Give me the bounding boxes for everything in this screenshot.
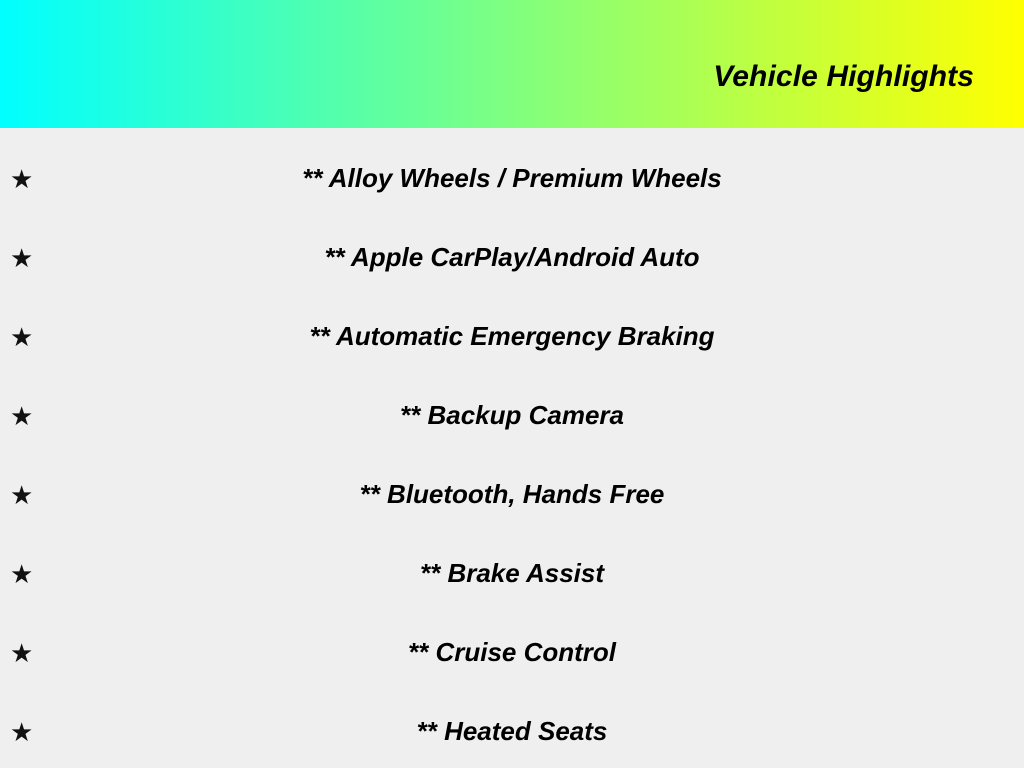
highlight-label: ** Automatic Emergency Braking xyxy=(0,321,1024,352)
list-item: ★ ** Brake Assist xyxy=(0,534,1024,613)
page-title: Vehicle Highlights xyxy=(713,34,1024,94)
list-item: ★ ** Backup Camera xyxy=(0,376,1024,455)
highlight-label: ** Backup Camera xyxy=(0,400,1024,431)
star-icon: ★ xyxy=(10,482,40,508)
star-icon: ★ xyxy=(10,561,40,587)
list-item: ★ ** Cruise Control xyxy=(0,613,1024,692)
highlight-label: ** Alloy Wheels / Premium Wheels xyxy=(0,163,1024,194)
vehicle-highlights-page: Vehicle Highlights ★ ** Alloy Wheels / P… xyxy=(0,0,1024,768)
highlight-label: ** Heated Seats xyxy=(0,716,1024,747)
star-icon: ★ xyxy=(10,640,40,666)
list-item: ★ ** Bluetooth, Hands Free xyxy=(0,455,1024,534)
star-icon: ★ xyxy=(10,245,40,271)
star-icon: ★ xyxy=(10,719,40,745)
header-banner: Vehicle Highlights xyxy=(0,0,1024,128)
highlight-label: ** Cruise Control xyxy=(0,637,1024,668)
highlight-label: ** Brake Assist xyxy=(0,558,1024,589)
star-icon: ★ xyxy=(10,403,40,429)
list-item: ★ ** Automatic Emergency Braking xyxy=(0,297,1024,376)
star-icon: ★ xyxy=(10,324,40,350)
list-item: ★ ** Apple CarPlay/Android Auto xyxy=(0,218,1024,297)
highlight-label: ** Bluetooth, Hands Free xyxy=(0,479,1024,510)
highlights-list: ★ ** Alloy Wheels / Premium Wheels ★ ** … xyxy=(0,128,1024,768)
star-icon: ★ xyxy=(10,166,40,192)
highlight-label: ** Apple CarPlay/Android Auto xyxy=(0,242,1024,273)
list-item: ★ ** Heated Seats xyxy=(0,692,1024,768)
list-item: ★ ** Alloy Wheels / Premium Wheels xyxy=(0,139,1024,218)
